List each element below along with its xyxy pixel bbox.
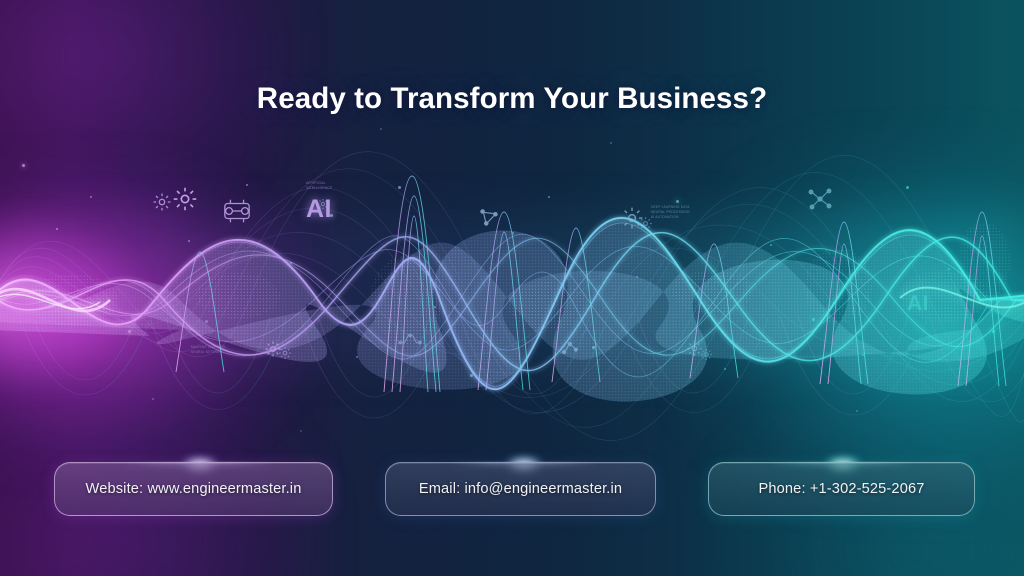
chip-icon <box>218 196 256 226</box>
particle-dot <box>676 200 679 203</box>
contact-website-button[interactable]: Website: www.engineermaster.in <box>54 462 333 516</box>
particle-dot <box>152 398 154 400</box>
particle-dot <box>128 330 131 333</box>
particle-dot <box>948 268 950 270</box>
particle-dot <box>56 228 58 230</box>
particle-dot <box>300 430 302 432</box>
gear-icon <box>700 348 713 361</box>
gear-icon <box>172 186 198 212</box>
circuit-icon <box>398 330 422 348</box>
contact-phone-button[interactable]: Phone: +1-302-525-2067 <box>708 462 975 516</box>
particle-dot <box>246 184 248 186</box>
particle-dot <box>434 306 436 308</box>
particle-dot <box>812 318 815 321</box>
particle-dot <box>592 346 595 349</box>
particle-dot <box>770 244 772 246</box>
gear-icon <box>638 216 653 231</box>
gear-icon <box>264 340 282 358</box>
contact-email-button[interactable]: Email: info@engineermaster.in <box>385 462 656 516</box>
gear-icon <box>317 198 329 210</box>
network-node-icon <box>806 186 834 212</box>
particle-dot <box>856 410 858 412</box>
particle-dot <box>636 276 638 278</box>
gear-icon <box>686 340 703 357</box>
particle-dot <box>22 164 25 167</box>
micro-caption-left: ARTIFICIALINTELLIGENCE <box>306 181 332 191</box>
particle-dot <box>398 186 401 189</box>
slide-canvas: ARTIFICIALINTELLIGENCE AI MACHINE LEARNI… <box>0 0 1024 576</box>
micro-caption-center: MACHINE LEARNINGNEURAL NETWORK <box>191 345 225 354</box>
background-glow-magenta <box>0 150 320 480</box>
micro-caption-right: DEEP LEARNING DATANEURAL PROCESSINGAI AU… <box>651 205 690 219</box>
gear-icon <box>152 192 172 212</box>
particle-dot <box>188 240 190 242</box>
particle-dot <box>205 320 208 323</box>
network-node-icon <box>478 206 500 228</box>
particle-dot <box>290 262 292 264</box>
particle-dot <box>610 142 612 144</box>
particle-dot <box>906 186 909 189</box>
particle-dot <box>356 356 358 358</box>
particle-dot <box>470 374 473 377</box>
background-glow-magenta-core <box>0 215 140 390</box>
particle-dot <box>548 196 550 198</box>
gear-icon <box>278 346 292 360</box>
particle-dot <box>330 214 333 217</box>
particle-dot <box>380 128 382 130</box>
network-node-icon <box>560 338 580 358</box>
particle-dot <box>862 354 864 356</box>
contact-row: Website: www.engineermaster.in Email: in… <box>0 462 1024 516</box>
particle-dot <box>512 232 514 234</box>
gear-icon <box>620 206 644 230</box>
ai-badge-left: AI <box>306 195 332 224</box>
particle-dot <box>90 196 92 198</box>
ai-badge-right: AI <box>907 292 929 316</box>
background-glow-center-band <box>0 215 1024 365</box>
page-title: Ready to Transform Your Business? <box>0 82 1024 116</box>
particle-dot <box>992 330 995 333</box>
particle-dot <box>724 368 726 370</box>
